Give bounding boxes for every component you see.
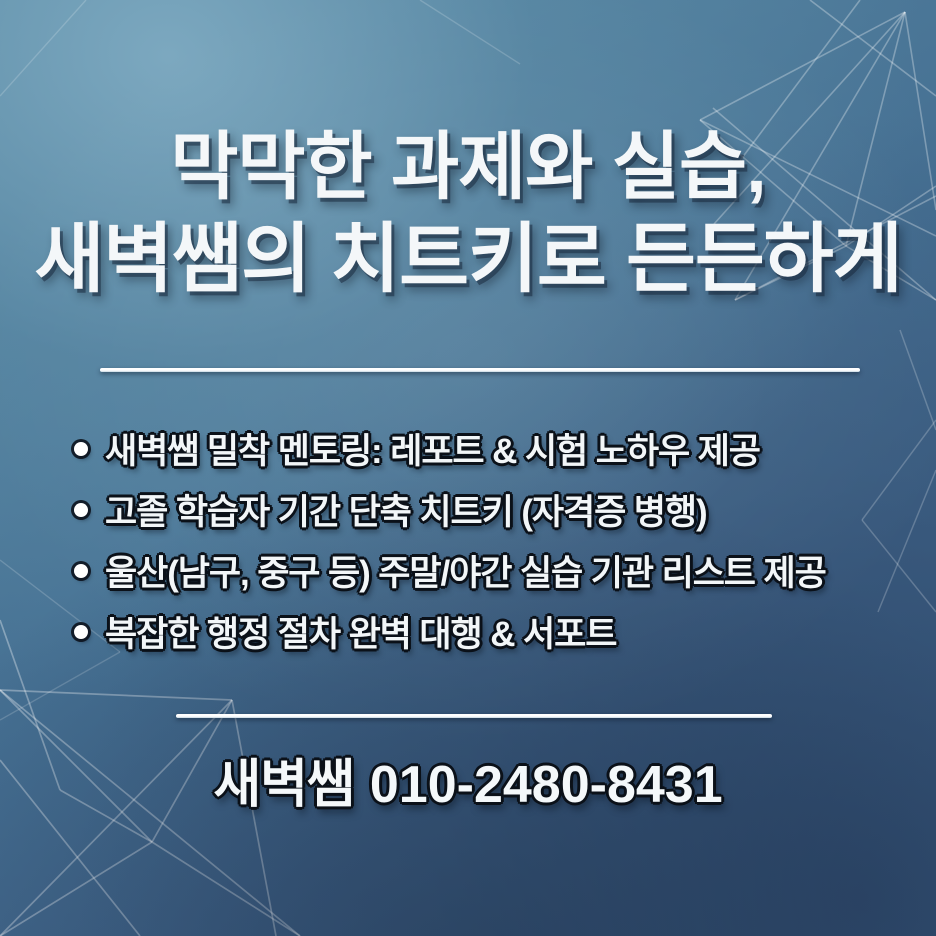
list-item: 새벽쌤 밀착 멘토링: 레포트 & 시험 노하우 제공	[72, 418, 922, 479]
feature-list: 새벽쌤 밀착 멘토링: 레포트 & 시험 노하우 제공 고졸 학습자 기간 단축…	[72, 418, 922, 662]
bullet-dot-icon	[74, 625, 88, 639]
list-item-label: 고졸 학습자 기간 단축 치트키 (자격증 병행)	[105, 484, 707, 535]
list-item-label: 복잡한 행정 절차 완벽 대행 & 서포트	[105, 606, 616, 657]
headline-line-1: 막막한 과제와 실습,	[0, 128, 936, 206]
list-item: 울산(남구, 중구 등) 주말/야간 실습 기관 리스트 제공	[72, 540, 922, 601]
list-item: 고졸 학습자 기간 단축 치트키 (자격증 병행)	[72, 479, 922, 540]
list-item: 복잡한 행정 절차 완벽 대행 & 서포트	[72, 601, 922, 662]
bullet-dot-icon	[74, 503, 88, 517]
contact-phone-number[interactable]: 010-2480-8431	[370, 755, 723, 815]
divider-top	[100, 368, 860, 372]
page-title: 막막한 과제와 실습, 새벽쌤의 치트키로 든든하게	[0, 128, 936, 301]
bullet-dot-icon	[74, 442, 88, 456]
contact-brand-name: 새벽쌤	[213, 742, 354, 817]
list-item-label: 새벽쌤 밀착 멘토링: 레포트 & 시험 노하우 제공	[105, 423, 760, 474]
contact-block: 새벽쌤010-2480-8431	[0, 742, 936, 817]
divider-bottom	[176, 714, 772, 718]
promo-card: 막막한 과제와 실습, 새벽쌤의 치트키로 든든하게 새벽쌤 밀착 멘토링: 레…	[0, 0, 936, 936]
bullet-dot-icon	[74, 564, 88, 578]
list-item-label: 울산(남구, 중구 등) 주말/야간 실습 기관 리스트 제공	[105, 545, 826, 596]
headline-line-2: 새벽쌤의 치트키로 든든하게	[0, 220, 936, 301]
